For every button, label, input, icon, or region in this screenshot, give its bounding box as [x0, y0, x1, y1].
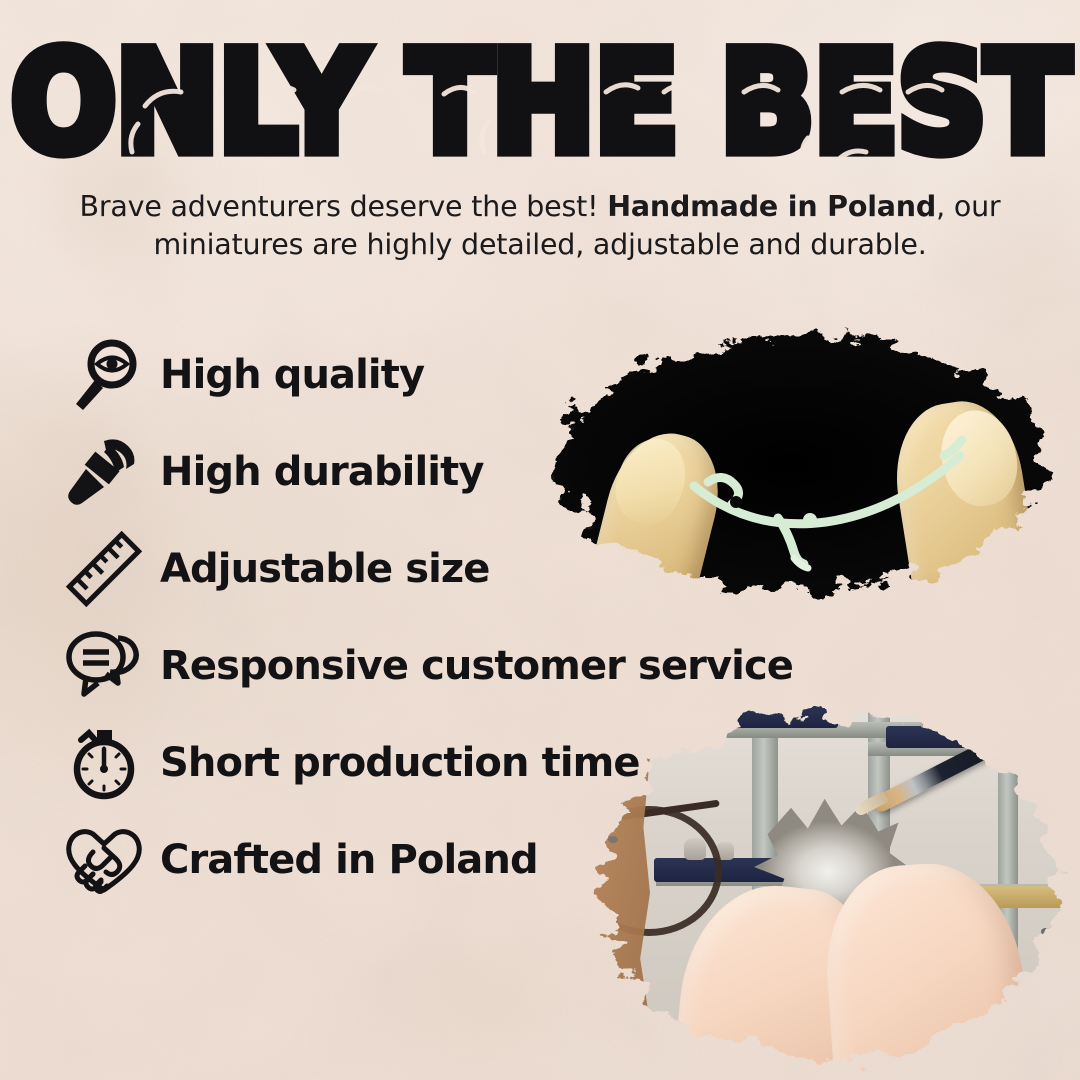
photo-content [522, 306, 1080, 622]
ink-speck [852, 602, 860, 608]
unpainted-miniature [728, 692, 744, 709]
torn-speck [642, 986, 649, 992]
magnifier-eye-icon [62, 336, 146, 414]
torn-speck [1016, 1034, 1024, 1040]
unpainted-miniature [966, 708, 984, 728]
hammer-icon [62, 433, 146, 511]
ink-speck [1032, 554, 1038, 559]
page-title: ONLY THE BEST [0, 34, 1080, 173]
stopwatch-icon [62, 724, 146, 802]
photo-content [568, 686, 1080, 1080]
infographic-canvas: ONLY THE BEST Brave adventurers deserve … [0, 0, 1080, 1080]
unpainted-miniature [754, 690, 768, 709]
feature-label: Crafted in Poland [160, 837, 538, 883]
subtitle-emphasis: Handmade in Poland [607, 190, 936, 223]
subtitle-lead: Brave adventurers deserve the best! [80, 190, 599, 223]
torn-speck [626, 750, 634, 756]
feature-label: High quality [160, 352, 424, 398]
workshop-scene [568, 686, 1080, 1080]
painting-workshop-photo [568, 686, 1080, 1080]
speech-bubbles-icon [62, 627, 146, 705]
torn-speck [804, 696, 813, 702]
bent-miniature-piece [522, 306, 1080, 622]
handshake-heart-icon [62, 821, 146, 899]
torn-speck [608, 836, 618, 843]
torn-speck [1041, 928, 1050, 935]
subtitle: Brave adventurers deserve the best! Hand… [60, 188, 1020, 264]
feature-label: Adjustable size [160, 546, 490, 592]
feature-label: Responsive customer service [160, 643, 793, 689]
ink-speck [544, 474, 555, 482]
flexible-miniature-photo [522, 306, 1080, 622]
ruler-icon [62, 530, 146, 608]
ink-speck [568, 426, 574, 431]
feature-label: High durability [160, 449, 484, 495]
miniature-tray [708, 706, 838, 728]
unpainted-miniature [920, 710, 935, 728]
ink-speck [586, 524, 593, 530]
ink-speck [1050, 364, 1058, 371]
ink-speck [552, 376, 561, 383]
ink-speck [732, 324, 741, 330]
